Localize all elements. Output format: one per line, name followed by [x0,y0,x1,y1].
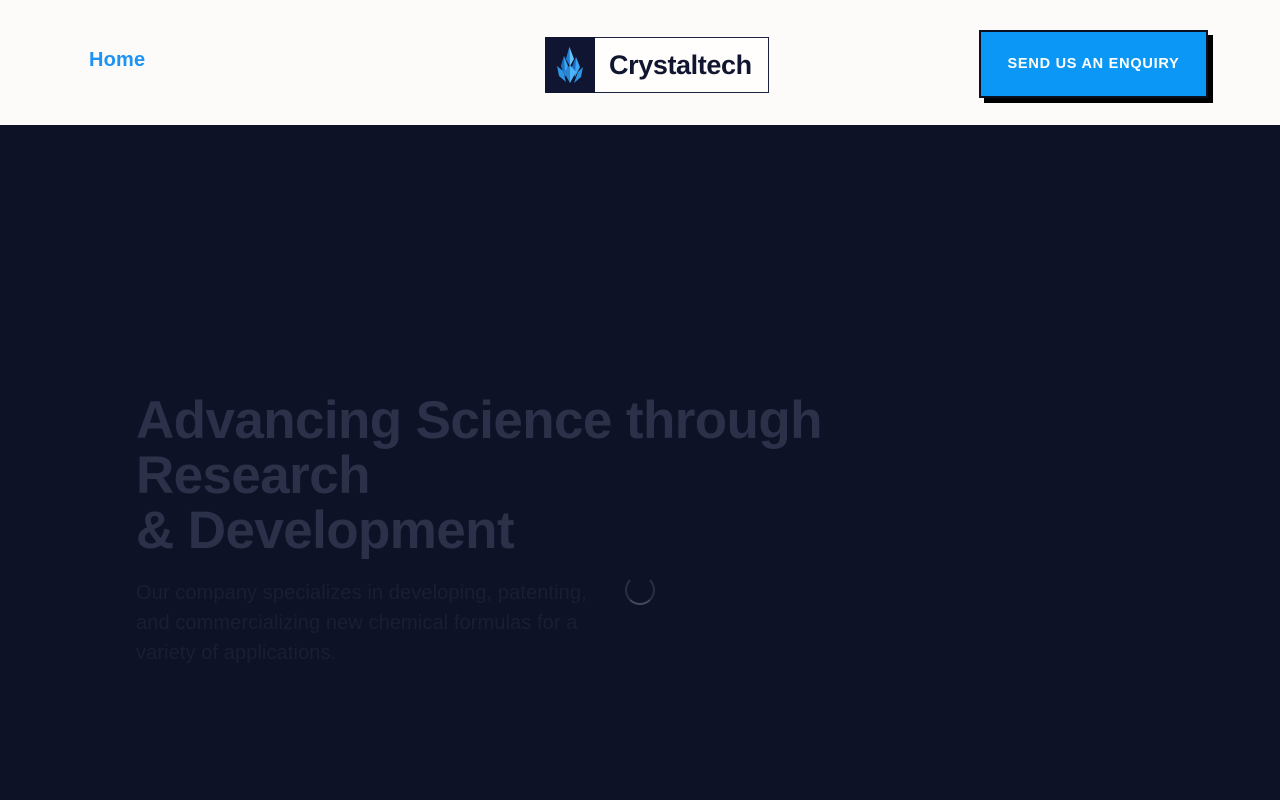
site-header: Home Crystaltech [0,0,1280,125]
page-root: Home Crystaltech [0,0,1280,800]
loading-spinner-icon [625,575,655,605]
nav-link-home[interactable]: Home [89,48,145,72]
hero-title: Advancing Science through Research & Dev… [136,393,1066,558]
enquiry-button-wrapper: SEND US AN ENQUIRY [979,30,1213,103]
logo-wordmark: Crystaltech [609,52,752,79]
hero-subtitle: Our company specializes in developing, p… [136,578,596,668]
crystal-icon [545,37,595,93]
send-enquiry-button[interactable]: SEND US AN ENQUIRY [979,30,1208,98]
hero-content: Advancing Science through Research & Dev… [136,393,1066,668]
hero-section: Advancing Science through Research & Dev… [0,125,1280,800]
logo-wordmark-box: Crystaltech [595,37,769,93]
site-logo[interactable]: Crystaltech [545,37,769,93]
